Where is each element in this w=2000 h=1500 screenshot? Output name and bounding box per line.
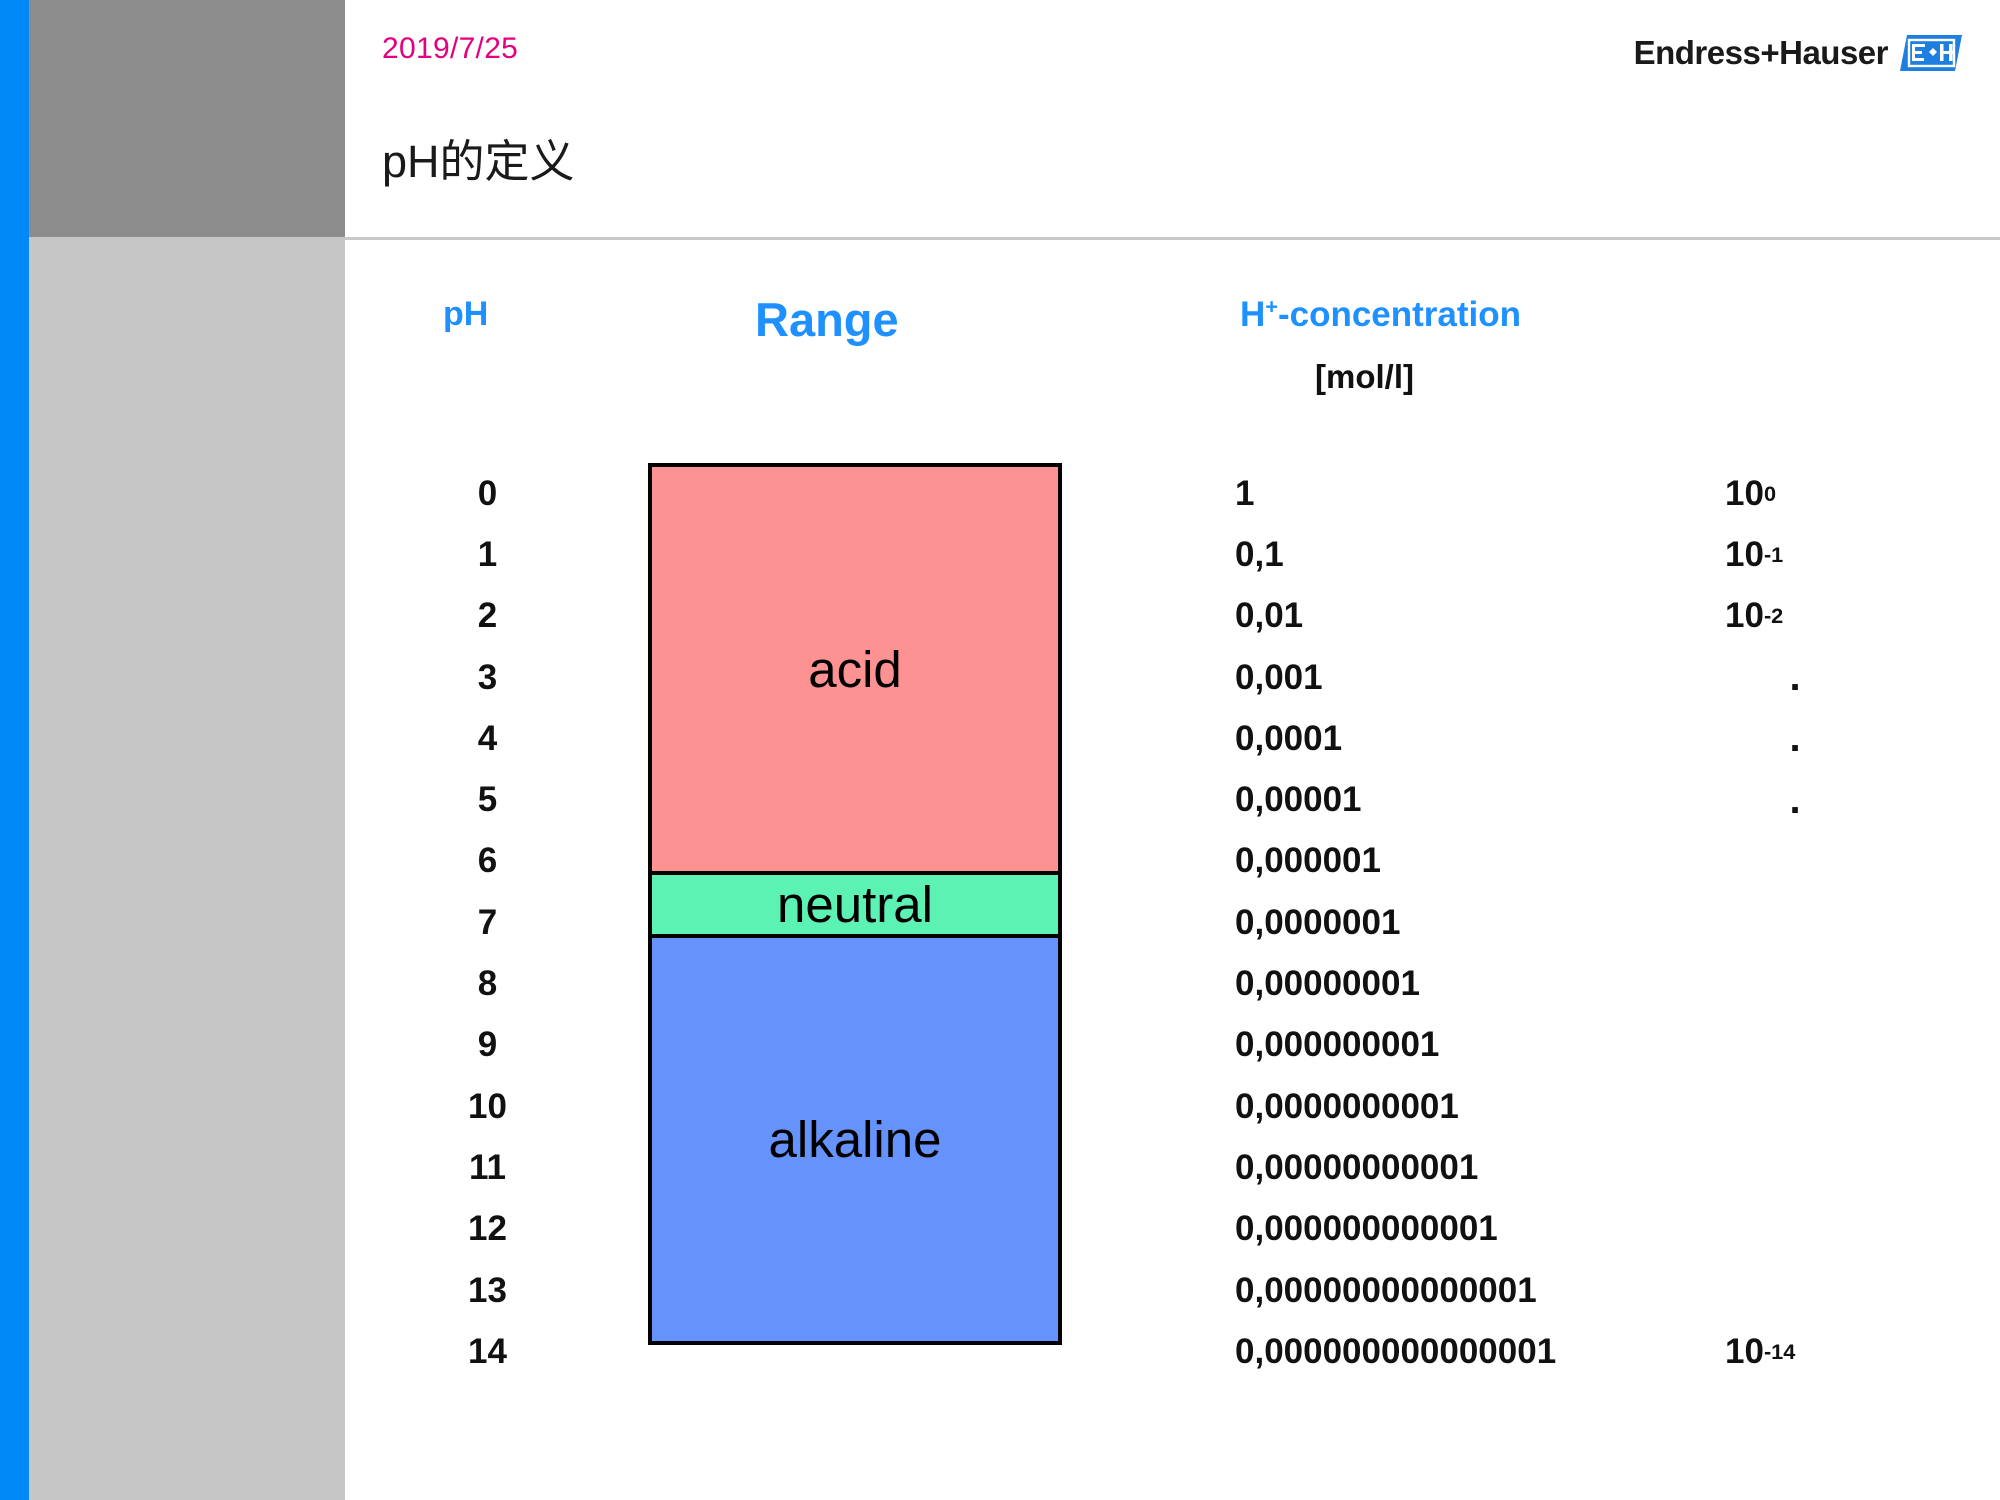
concentration-value-cell: 0,00000001: [1235, 953, 1556, 1014]
band-acid-label: acid: [808, 640, 902, 699]
header-divider: [345, 237, 2000, 240]
concentration-plus-sup: +: [1265, 293, 1278, 318]
ph-value-cell: 4: [430, 708, 545, 769]
sidebar-dark-block: [29, 0, 345, 237]
ph-value-cell: 2: [430, 586, 545, 647]
band-neutral-label: neutral: [777, 875, 933, 934]
ph-value-cell: 14: [430, 1321, 545, 1382]
concentration-value-cell: 0,000000001: [1235, 1015, 1556, 1076]
page-title: pH的定义: [382, 125, 575, 190]
ph-value-cell: 9: [430, 1015, 545, 1076]
band-acid: acid: [652, 467, 1058, 871]
brand-wordmark: Endress+Hauser: [1634, 34, 1888, 72]
sidebar-light-block: [29, 237, 345, 1500]
exponent-value-cell: 10-1: [1725, 524, 1945, 585]
ph-value-cell: 1: [430, 524, 545, 585]
exponent-value-cell: 10-2: [1725, 586, 1945, 647]
exponent-base: 10: [1725, 596, 1764, 636]
exponent-empty-cell: [1725, 1076, 1945, 1137]
exponent-ellipsis-dot: .: [1725, 708, 1945, 769]
concentration-rest: -concentration: [1278, 295, 1521, 334]
exponent-value-cell: 100: [1725, 463, 1945, 524]
slide-canvas: 2019/7/25 pH的定义 Endress+Hauser pH Range …: [0, 0, 2000, 1500]
band-neutral: neutral: [652, 871, 1058, 938]
concentration-value-cell: 1: [1235, 463, 1556, 524]
eh-logo-icon: [1900, 35, 1962, 71]
column-header-unit: [mol/l]: [1315, 358, 1414, 396]
exponent-empty-cell: [1725, 831, 1945, 892]
exponent-ellipsis-dot: .: [1725, 647, 1945, 708]
exponent-column: 10010-110-2... 10-14: [1725, 463, 1945, 1382]
concentration-value-cell: 0,00001: [1235, 769, 1556, 830]
concentration-value-cell: 0,00000000000001: [1235, 1260, 1556, 1321]
exponent-ellipsis-dot: .: [1725, 769, 1945, 830]
exponent-value-cell: 10-14: [1725, 1321, 1945, 1382]
concentration-value-cell: 0,000000000000001: [1235, 1321, 1556, 1382]
exponent-empty-cell: [1725, 953, 1945, 1014]
band-alkaline: alkaline: [652, 938, 1058, 1341]
column-header-concentration: H+-concentration: [1240, 295, 1521, 335]
ph-value-cell: 6: [430, 831, 545, 892]
concentration-value-cell: 0,000000000001: [1235, 1199, 1556, 1260]
concentration-value-cell: 0,0000001: [1235, 892, 1556, 953]
column-header-ph: pH: [443, 295, 488, 334]
exponent-empty-cell: [1725, 892, 1945, 953]
brand-logo: Endress+Hauser: [1634, 34, 1962, 72]
ph-value-cell: 3: [430, 647, 545, 708]
ph-value-cell: 13: [430, 1260, 545, 1321]
ph-value-cell: 8: [430, 953, 545, 1014]
exponent-empty-cell: [1725, 1137, 1945, 1198]
exponent-empty-cell: [1725, 1260, 1945, 1321]
left-blue-rail: [0, 0, 29, 1500]
concentration-value-cell: 0,0000000001: [1235, 1076, 1556, 1137]
ph-value-cell: 10: [430, 1076, 545, 1137]
exponent-base: 10: [1725, 535, 1764, 575]
concentration-value-column: 10,10,010,0010,00010,000010,0000010,0000…: [1235, 463, 1556, 1382]
concentration-value-cell: 0,00000000001: [1235, 1137, 1556, 1198]
concentration-h: H: [1240, 295, 1265, 334]
column-header-range: Range: [755, 292, 899, 347]
exponent-empty-cell: [1725, 1199, 1945, 1260]
band-alkaline-label: alkaline: [769, 1110, 942, 1169]
concentration-value-cell: 0,001: [1235, 647, 1556, 708]
slide-date: 2019/7/25: [382, 32, 518, 66]
ph-value-cell: 5: [430, 769, 545, 830]
exponent-base: 10: [1725, 1332, 1764, 1372]
exponent-empty-cell: [1725, 1015, 1945, 1076]
concentration-value-cell: 0,000001: [1235, 831, 1556, 892]
ph-value-cell: 11: [430, 1137, 545, 1198]
ph-value-cell: 7: [430, 892, 545, 953]
ph-value-cell: 0: [430, 463, 545, 524]
concentration-value-cell: 0,1: [1235, 524, 1556, 585]
concentration-value-cell: 0,0001: [1235, 708, 1556, 769]
ph-range-bar: acid neutral alkaline: [648, 463, 1062, 1345]
concentration-value-cell: 0,01: [1235, 586, 1556, 647]
ph-value-column: 01234567891011121314: [430, 463, 545, 1382]
exponent-base: 10: [1725, 474, 1764, 514]
ph-value-cell: 12: [430, 1199, 545, 1260]
